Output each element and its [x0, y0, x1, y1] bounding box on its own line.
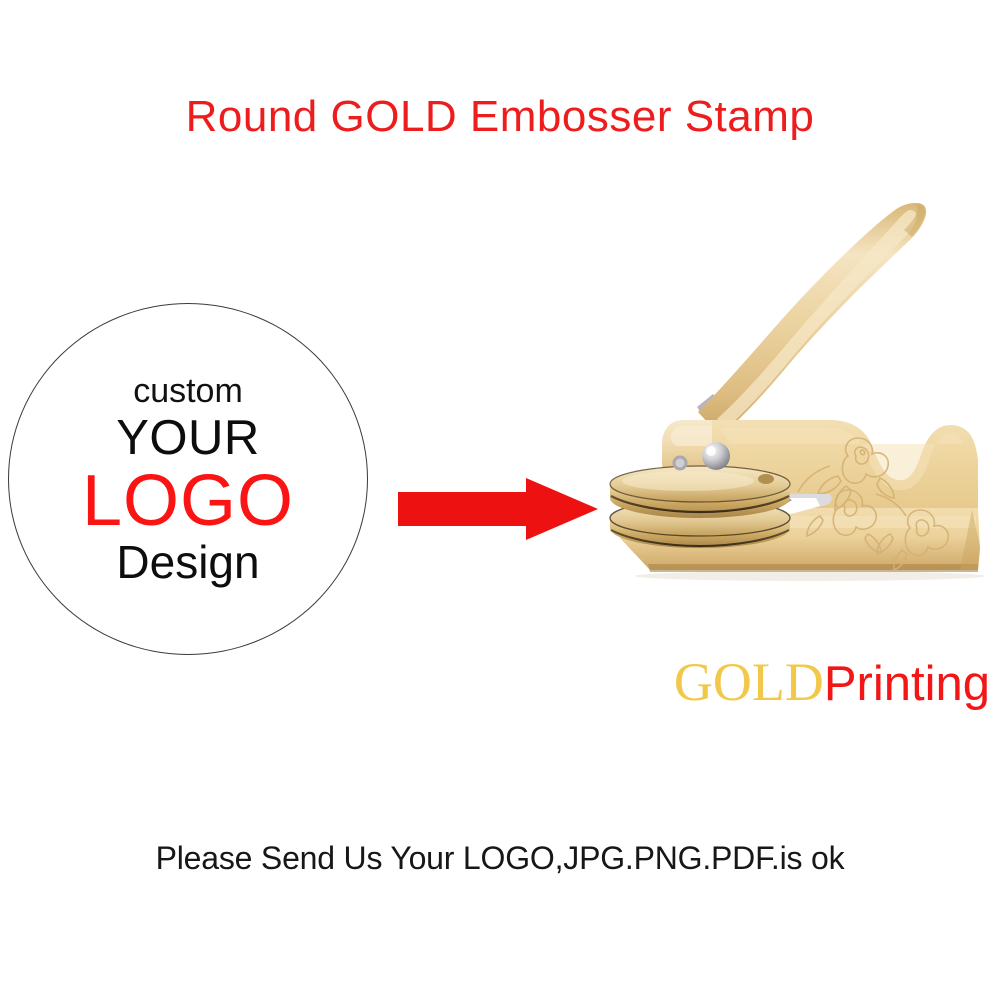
embosser-handle — [698, 203, 926, 436]
gold-word: GOLD — [674, 652, 824, 712]
logo-submission-note: Please Send Us Your LOGO,JPG.PNG.PDF.is … — [0, 840, 1000, 877]
page-title: Round GOLD Embosser Stamp — [0, 92, 1000, 142]
logo-line-logo: LOGO — [82, 465, 294, 537]
logo-line-design: Design — [116, 539, 259, 585]
product-image-canvas: Round GOLD Embosser Stamp custom YOUR LO… — [0, 0, 1000, 1000]
pivot-screw — [702, 442, 730, 470]
printing-word: Printing — [824, 657, 990, 711]
gold-printing-label: GOLDPrinting — [560, 655, 990, 709]
gold-embosser-illustration — [580, 198, 1000, 598]
red-right-arrow-icon — [398, 478, 598, 540]
pivot-pin — [673, 456, 688, 471]
logo-line-your: YOUR — [116, 414, 260, 463]
custom-logo-preview-circle: custom YOUR LOGO Design — [8, 303, 368, 655]
embosser-die-head — [610, 466, 790, 548]
logo-line-custom: custom — [133, 374, 243, 408]
